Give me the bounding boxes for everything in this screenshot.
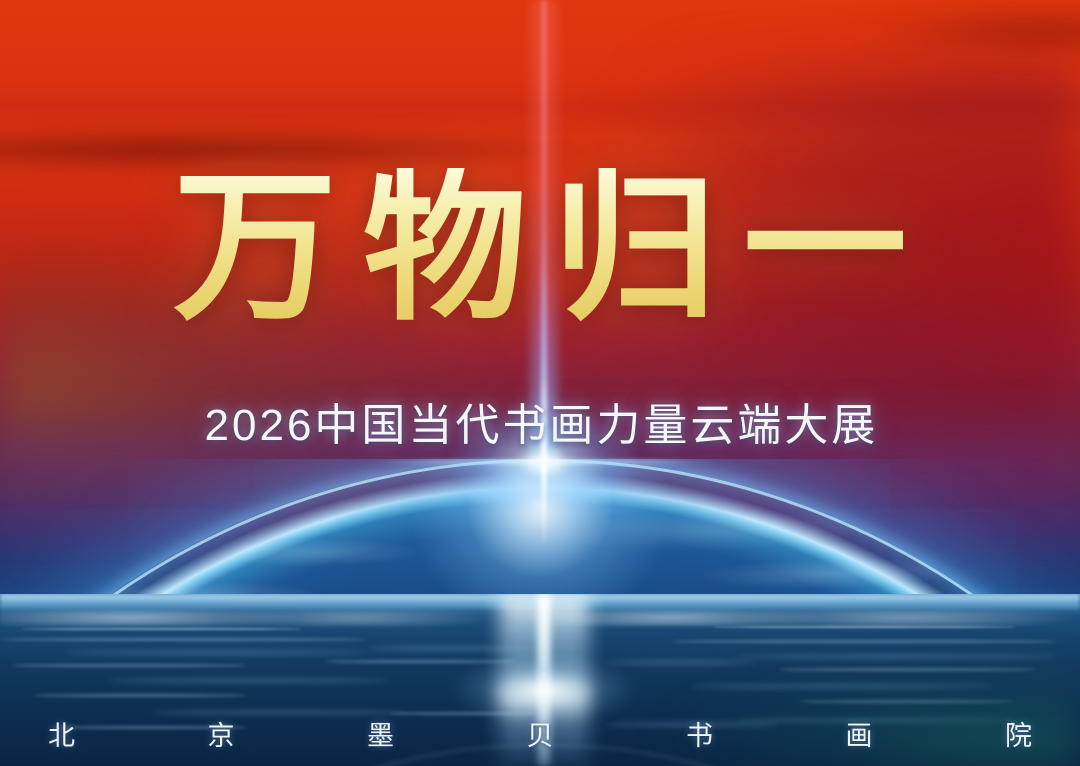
water-wave <box>0 638 367 641</box>
poster-main-title: 万物归一 <box>0 168 1080 332</box>
organization-char: 贝 <box>527 723 554 750</box>
water-wave <box>32 694 248 697</box>
water-wave <box>11 664 249 667</box>
water-wave <box>65 650 367 655</box>
water-wave <box>151 710 410 715</box>
poster-canvas: 万物归一 2026中国当代书画力量云端大展 北 京 墨 贝 书 画 院 <box>0 0 1080 766</box>
water-wave <box>713 626 1015 628</box>
water-wave <box>734 654 1058 659</box>
water-wave <box>670 640 1059 643</box>
poster-subtitle: 2026中国当代书画力量云端大展 <box>0 404 1080 448</box>
beam-water-hotspot <box>449 655 639 725</box>
organization-line: 北 京 墨 贝 书 画 院 <box>0 723 1080 750</box>
water-wave <box>108 678 389 683</box>
organization-char: 院 <box>1005 723 1032 750</box>
organization-char: 墨 <box>367 723 394 750</box>
organization-char: 京 <box>208 723 235 750</box>
cloud-band-right-icon <box>821 8 1080 54</box>
water-wave <box>22 628 303 630</box>
organization-char: 画 <box>846 723 873 750</box>
organization-char: 北 <box>48 723 75 750</box>
organization-char: 书 <box>686 723 713 750</box>
